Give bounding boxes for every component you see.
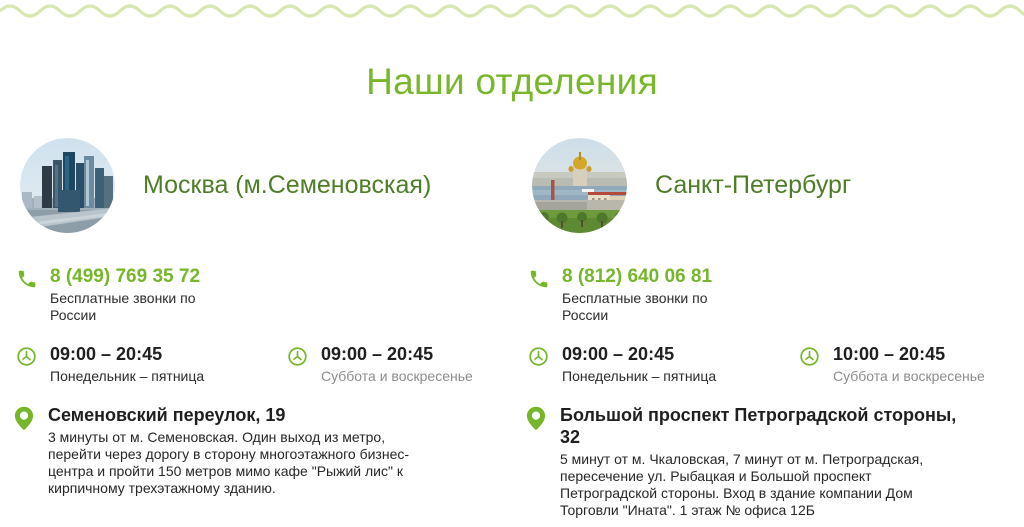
avatar (20, 138, 115, 233)
avatar (532, 138, 627, 233)
branch-card-spb: Санкт-Петербург 8 (812) 640 06 81 Беспла… (512, 130, 1024, 527)
clock-icon (287, 344, 313, 367)
branch-header: Санкт-Петербург (532, 138, 851, 233)
hours-time: 09:00 – 20:45 (321, 344, 473, 365)
hours-days: Суббота и воскресенье (321, 367, 473, 385)
branch-city-name: Москва (м.Семеновская) (143, 171, 431, 200)
branch-card-moscow: Москва (м.Семеновская) 8 (499) 769 35 72… (0, 130, 512, 527)
clock-icon (799, 344, 825, 367)
wavy-divider (0, 0, 1024, 18)
hours-weekday: 09:00 – 20:45 Понедельник – пятница (528, 344, 716, 385)
phone-block: 8 (499) 769 35 72 Бесплатные звонки по Р… (16, 266, 220, 324)
address-description: 5 минут от м. Чкаловская, 7 минут от м. … (560, 451, 960, 519)
branches-list: Москва (м.Семеновская) 8 (499) 769 35 72… (0, 130, 1024, 527)
address-description: 3 минуты от м. Семеновская. Один выход и… (48, 429, 413, 497)
hours-time: 09:00 – 20:45 (50, 344, 204, 365)
phone-note: Бесплатные звонки по России (562, 290, 732, 324)
hours-weekday: 09:00 – 20:45 Понедельник – пятница (16, 344, 204, 385)
hours-weekend: 10:00 – 20:45 Суббота и воскресенье (799, 344, 985, 385)
phone-handset-icon (16, 266, 42, 290)
hours-days: Понедельник – пятница (562, 367, 716, 385)
hours-time: 09:00 – 20:45 (562, 344, 716, 365)
clock-icon (16, 344, 42, 367)
hours-time: 10:00 – 20:45 (833, 344, 985, 365)
phone-block: 8 (812) 640 06 81 Бесплатные звонки по Р… (528, 266, 732, 324)
address-block: Семеновский переулок, 19 3 минуты от м. … (14, 404, 413, 497)
page-title: Наши отделения (0, 61, 1024, 103)
phone-handset-icon (528, 266, 554, 290)
branches-page: Наши отделения (0, 0, 1024, 527)
address-title: Семеновский переулок, 19 (48, 404, 413, 426)
branch-city-name: Санкт-Петербург (655, 171, 851, 200)
hours-weekend: 09:00 – 20:45 Суббота и воскресенье (287, 344, 473, 385)
address-block: Большой проспект Петроградской стороны, … (526, 404, 960, 519)
hours-days: Понедельник – пятница (50, 367, 204, 385)
clock-icon (528, 344, 554, 367)
phone-number[interactable]: 8 (812) 640 06 81 (562, 266, 732, 288)
hours-days: Суббота и воскресенье (833, 367, 985, 385)
branch-header: Москва (м.Семеновская) (20, 138, 431, 233)
address-title: Большой проспект Петроградской стороны, … (560, 404, 960, 448)
phone-note: Бесплатные звонки по России (50, 290, 220, 324)
phone-number[interactable]: 8 (499) 769 35 72 (50, 266, 220, 288)
map-pin-icon (14, 404, 40, 431)
map-pin-icon (526, 404, 552, 431)
